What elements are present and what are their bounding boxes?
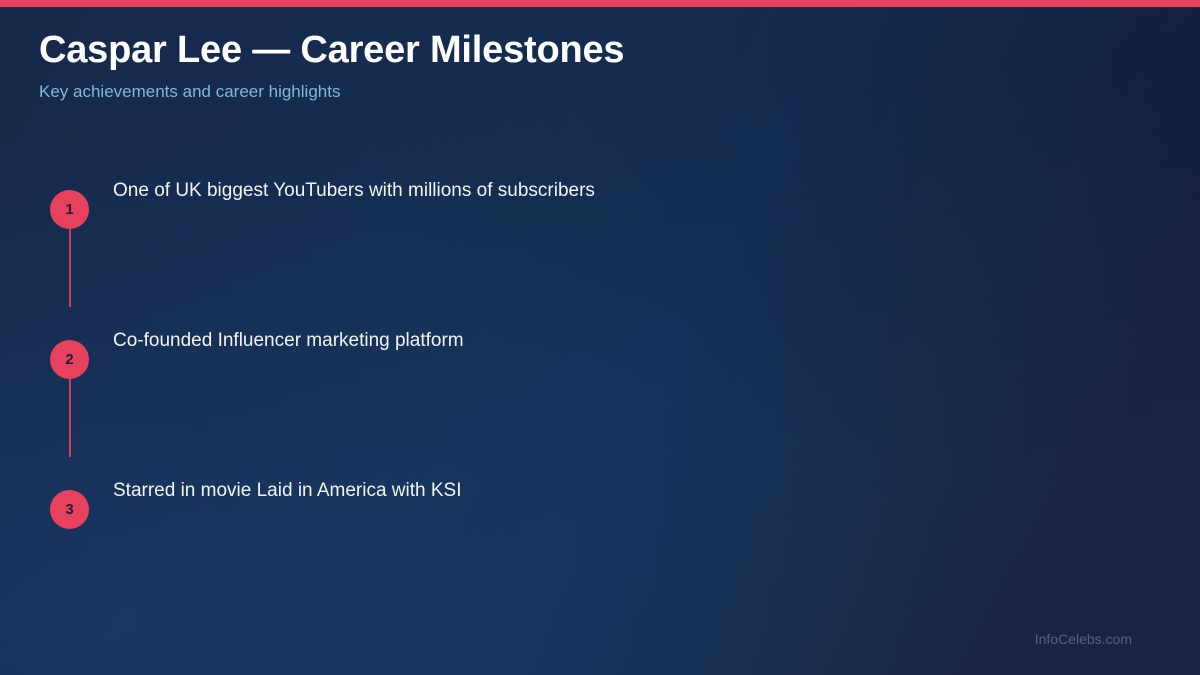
milestone-item: 3 Starred in movie Laid in America with … [0, 472, 1200, 622]
top-accent-bar [0, 0, 1200, 7]
slide-header: Caspar Lee — Career Milestones Key achie… [39, 29, 624, 102]
milestone-connector-1 [69, 229, 71, 307]
milestone-item: 1 One of UK biggest YouTubers with milli… [0, 172, 1200, 322]
milestone-text-2: Co-founded Influencer marketing platform [113, 328, 464, 354]
milestone-text-1: One of UK biggest YouTubers with million… [113, 178, 595, 204]
footer-watermark: InfoCelebs.com [1035, 631, 1132, 647]
slide-canvas: Caspar Lee — Career Milestones Key achie… [0, 0, 1200, 675]
milestone-number-label: 3 [65, 502, 73, 517]
milestone-number-label: 1 [65, 202, 73, 217]
milestone-number-label: 2 [65, 352, 73, 367]
milestone-marker-1: 1 [50, 190, 89, 229]
milestone-connector-2 [69, 379, 71, 457]
milestone-item: 2 Co-founded Influencer marketing platfo… [0, 322, 1200, 472]
milestones-timeline: 1 One of UK biggest YouTubers with milli… [0, 172, 1200, 622]
milestone-marker-3: 3 [50, 490, 89, 529]
page-subtitle: Key achievements and career highlights [39, 82, 624, 102]
page-title: Caspar Lee — Career Milestones [39, 29, 624, 72]
milestone-marker-2: 2 [50, 340, 89, 379]
milestone-text-3: Starred in movie Laid in America with KS… [113, 478, 462, 504]
